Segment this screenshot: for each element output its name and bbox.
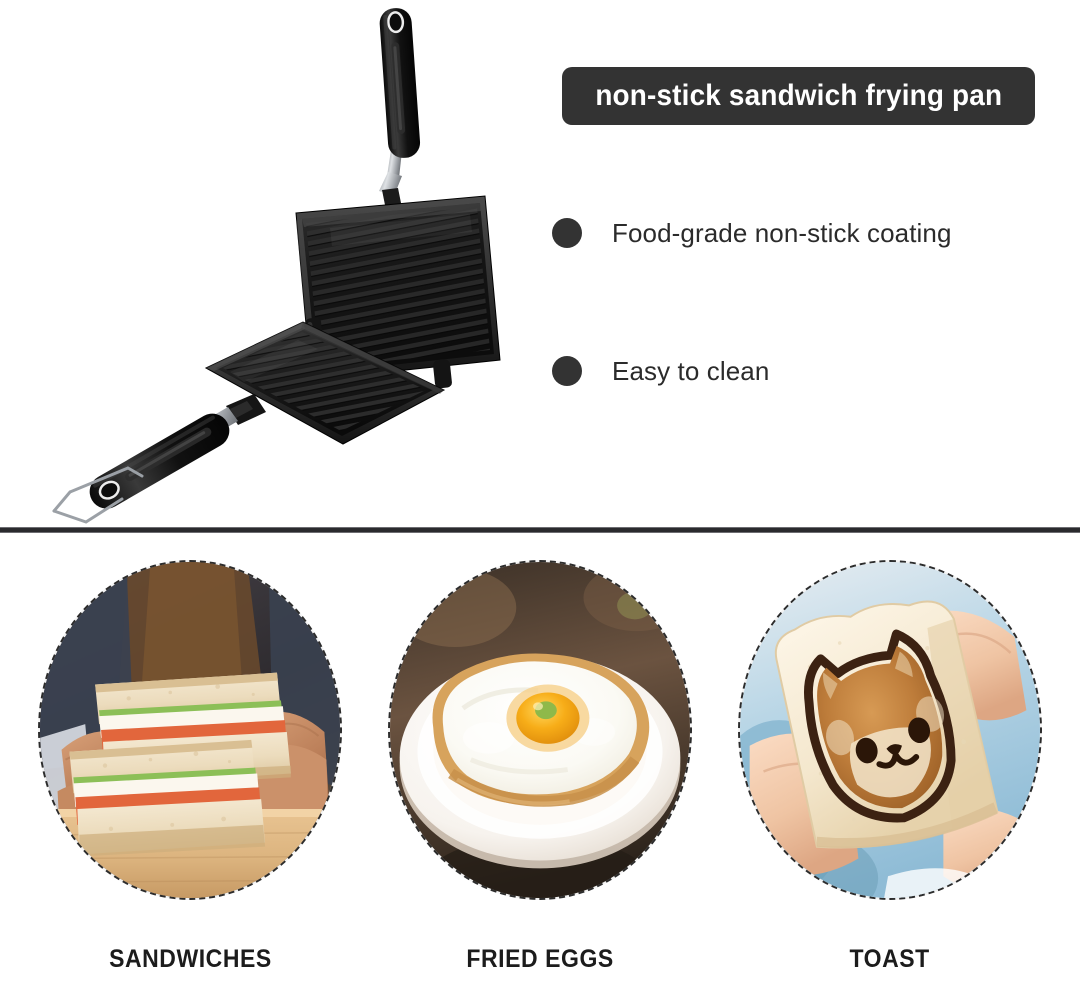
photo-frame-sandwiches <box>38 560 342 900</box>
caption-cell-2: TOAST <box>738 945 1042 989</box>
fried-egg <box>432 654 649 805</box>
section-divider <box>0 527 1080 533</box>
gallery-item-toast <box>738 560 1042 900</box>
filled-circle-bullet-icon <box>552 356 582 386</box>
gallery-caption-row: SANDWICHES FRIED EGGS TOAST <box>0 945 1080 989</box>
product-image <box>30 0 530 530</box>
photo-frame-toast <box>738 560 1042 900</box>
feature-item-0: Food-grade non-stick coating <box>552 210 1032 256</box>
feature-list: Food-grade non-stick coating Easy to cle… <box>552 210 1032 394</box>
caption-toast: TOAST <box>850 945 930 974</box>
usage-gallery: SANDWICHES FRIED EGGS TOAST <box>0 560 1080 989</box>
photo-frame-fried-eggs <box>388 560 692 900</box>
caption-sandwiches: SANDWICHES <box>109 945 272 974</box>
filled-circle-bullet-icon <box>552 218 582 248</box>
shiba-cat-face-toast-photo <box>740 562 1040 898</box>
lower-handle <box>83 407 235 514</box>
hero-section: non-stick sandwich frying pan Food-grade… <box>0 0 1080 530</box>
headline-banner: non-stick sandwich frying pan <box>562 67 1035 125</box>
gallery-photo-row <box>0 560 1080 900</box>
gallery-item-fried-eggs <box>388 560 692 900</box>
headline-text: non-stick sandwich frying pan <box>595 79 1002 113</box>
hands-holding-sandwiches-photo <box>40 562 340 898</box>
feature-item-1: Easy to clean <box>552 348 1032 394</box>
feature-label-1: Easy to clean <box>612 356 769 387</box>
feature-label-0: Food-grade non-stick coating <box>612 218 952 249</box>
fried-egg-on-plate-photo <box>390 562 690 898</box>
product-infographic-page: non-stick sandwich frying pan Food-grade… <box>0 0 1080 989</box>
caption-cell-1: FRIED EGGS <box>388 945 692 989</box>
caption-fried-eggs: FRIED EGGS <box>466 945 613 974</box>
upper-pan-plate <box>296 7 500 389</box>
sandwich-pan-illustration <box>30 0 530 530</box>
sandwich-bottom <box>69 740 265 857</box>
caption-cell-0: SANDWICHES <box>38 945 342 989</box>
upper-handle <box>379 7 421 159</box>
gallery-item-sandwiches <box>38 560 342 900</box>
